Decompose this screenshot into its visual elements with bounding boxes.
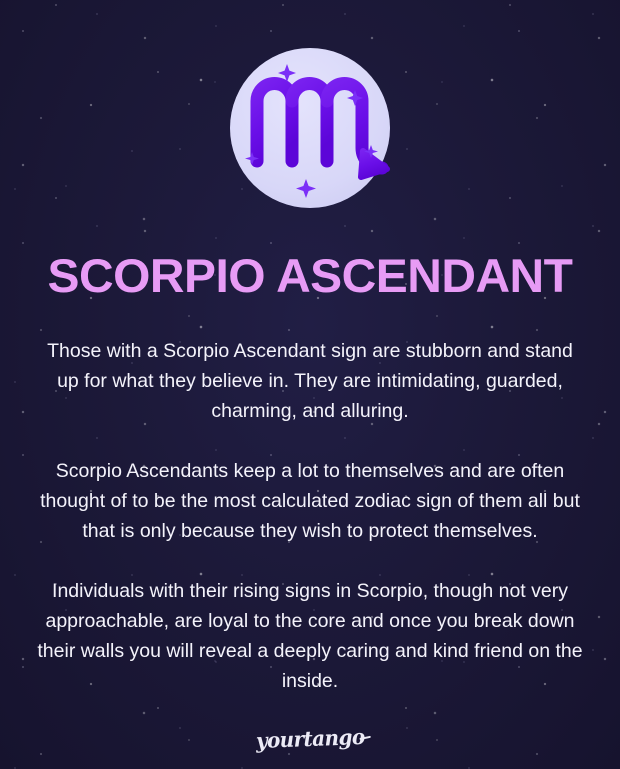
brand-logo-text: yourtango [255, 724, 365, 753]
description-body: Those with a Scorpio Ascendant sign are … [34, 336, 586, 696]
paragraph-1: Those with a Scorpio Ascendant sign are … [34, 336, 586, 426]
zodiac-poster: SCORPIO ASCENDANT Those with a Scorpio A… [0, 0, 620, 769]
brand-logo: yourtango [0, 726, 620, 751]
page-title: SCORPIO ASCENDANT [0, 252, 620, 299]
scorpio-emblem [230, 48, 390, 208]
paragraph-3: Individuals with their rising signs in S… [34, 576, 586, 696]
paragraph-2: Scorpio Ascendants keep a lot to themsel… [34, 456, 586, 546]
